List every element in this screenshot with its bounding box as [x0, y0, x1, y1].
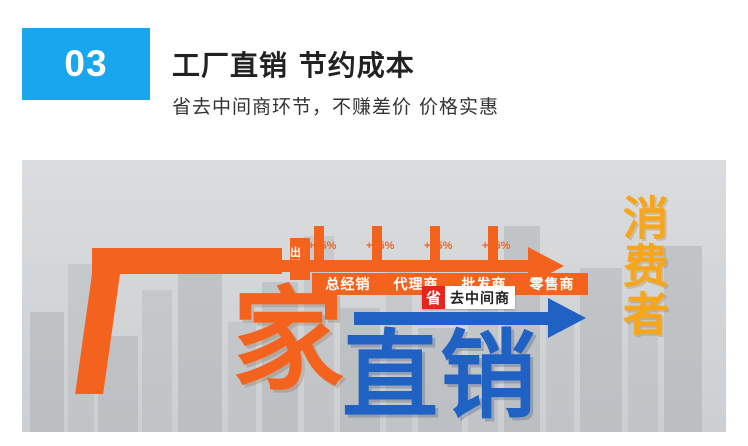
- markup-label: +25%: [366, 240, 394, 252]
- consumer-vertical-word: 消费者: [618, 194, 667, 338]
- page-subtitle: 省去中间商环节，不赚差价 价格实惠: [172, 92, 499, 119]
- markup-label: +25%: [308, 240, 336, 252]
- distribution-chain-rail: [280, 260, 580, 272]
- factory-big-word: 家: [232, 285, 344, 397]
- direct-sales-big-word: 直销: [342, 328, 538, 424]
- section-header: 03 工厂直销 节约成本 省去中间商环节，不赚差价 价格实惠: [0, 0, 748, 150]
- rail-bar: [280, 260, 532, 272]
- markup-label: +25%: [482, 240, 510, 252]
- markup-label: +25%: [424, 240, 452, 252]
- saving-badge-highlight: 省: [422, 286, 445, 309]
- saving-badge: 省 去中间商: [422, 286, 515, 309]
- chain-node: 零售商: [516, 273, 588, 295]
- page-root: 03 工厂直销 节约成本 省去中间商环节，不赚差价 价格实惠: [0, 0, 748, 446]
- section-number: 03: [64, 43, 107, 85]
- page-title: 工厂直销 节约成本: [172, 44, 415, 84]
- blue-arrow-head: [548, 298, 586, 338]
- section-number-badge: 03: [22, 28, 150, 100]
- export-tab: 出口: [290, 238, 310, 280]
- saving-badge-text: 去中间商: [445, 286, 515, 309]
- diagram-panel: 出口 +25% +25% +25% +25% 总经销 代理商 批发商 零售商 省: [22, 160, 726, 432]
- bracket-top-bar: [92, 248, 282, 274]
